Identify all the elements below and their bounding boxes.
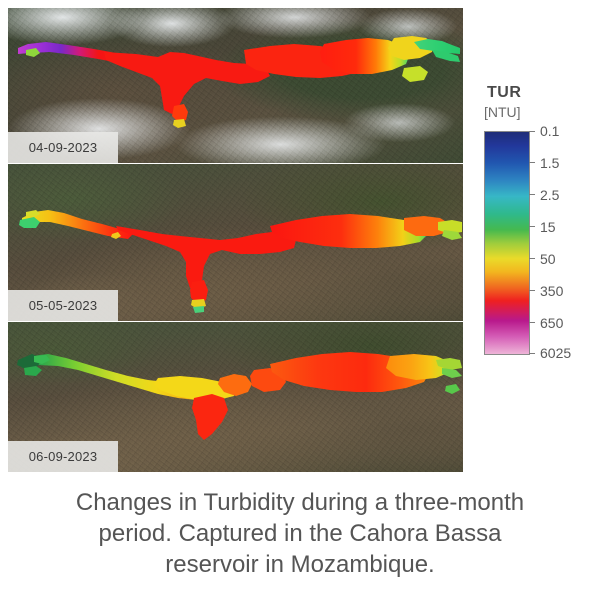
colorbar-tick-label: 1.5: [540, 155, 559, 171]
caption-line-1: Changes in Turbidity during a three-mont…: [14, 488, 586, 519]
colorbar-tick-label: 6025: [540, 345, 571, 361]
colorbar-tick-label: 0.1: [540, 123, 559, 139]
map-panel-3[interactable]: 06-09-2023: [8, 322, 463, 472]
colorbar-tick: 350: [529, 283, 563, 299]
colorbar-tick: 6025: [529, 345, 571, 361]
figure-caption: Changes in Turbidity during a three-mont…: [14, 488, 586, 581]
map-panel-2[interactable]: 05-05-2023: [8, 164, 463, 321]
map-panel-1[interactable]: 04-09-2023: [8, 8, 463, 163]
date-label-2: 05-05-2023: [8, 290, 118, 321]
colorbar-tick-label: 350: [540, 283, 563, 299]
tick-dash-icon: [529, 353, 535, 354]
tick-dash-icon: [529, 322, 535, 323]
colorbar-gradient: [484, 131, 530, 355]
colorbar-tick: 50: [529, 251, 556, 267]
tick-dash-icon: [529, 162, 535, 163]
colorbar-legend: TUR [NTU] 0.11.52.515503506506025: [481, 84, 593, 355]
legend-unit: [NTU]: [484, 104, 593, 120]
colorbar-tick-label: 650: [540, 315, 563, 331]
colorbar-tick-label: 50: [540, 251, 556, 267]
colorbar-tick: 15: [529, 219, 556, 235]
tick-dash-icon: [529, 258, 535, 259]
tick-dash-icon: [529, 131, 535, 132]
colorbar-ticks: 0.11.52.515503506506025: [529, 131, 589, 353]
colorbar-tick-label: 2.5: [540, 187, 559, 203]
legend-title: TUR: [487, 84, 593, 102]
date-label-1: 04-09-2023: [8, 132, 118, 163]
caption-line-3: reservoir in Mozambique.: [14, 550, 586, 581]
map-panel-stack: 04-09-2023: [8, 8, 463, 472]
tick-dash-icon: [529, 194, 535, 195]
date-label-3: 06-09-2023: [8, 441, 118, 472]
colorbar-tick: 0.1: [529, 123, 559, 139]
colorbar-tick: 2.5: [529, 187, 559, 203]
colorbar-tick-label: 15: [540, 219, 556, 235]
tick-dash-icon: [529, 226, 535, 227]
colorbar-wrap: 0.11.52.515503506506025: [484, 131, 590, 355]
colorbar-tick: 650: [529, 315, 563, 331]
caption-line-2: period. Captured in the Cahora Bassa: [14, 519, 586, 550]
colorbar-tick: 1.5: [529, 155, 559, 171]
turbidity-figure: 04-09-2023: [0, 0, 600, 600]
tick-dash-icon: [529, 290, 535, 291]
